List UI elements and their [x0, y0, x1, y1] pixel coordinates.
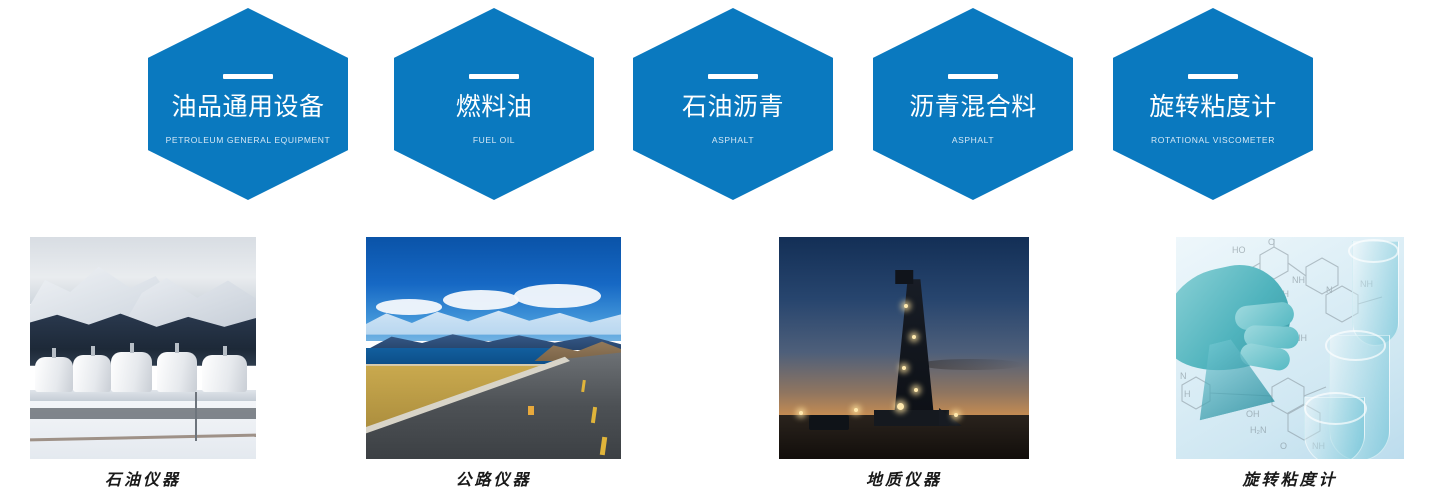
drilling-rig-dusk-scene	[779, 237, 1029, 459]
laboratory-chemistry-scene: HO O NH NH CH N NH N H H₂N O NH OH	[1176, 237, 1404, 459]
divider-rule-icon	[1188, 74, 1238, 79]
category-hexagon-asphalt[interactable]: 石油沥青 ASPHALT	[633, 8, 833, 200]
category-title: 燃料油	[456, 92, 533, 122]
category-subtitle: FUEL OIL	[473, 134, 515, 146]
category-hexagon-petroleum-general-equipment[interactable]: 油品通用设备 PETROLEUM GENERAL EQUIPMENT	[148, 8, 348, 200]
divider-rule-icon	[948, 74, 998, 79]
category-title: 沥青混合料	[909, 92, 1037, 122]
divider-rule-icon	[223, 74, 273, 79]
category-title: 旋转粘度计	[1149, 92, 1277, 122]
category-hexagon-fuel-oil[interactable]: 燃料油 FUEL OIL	[394, 8, 594, 200]
category-title: 石油沥青	[682, 92, 784, 122]
divider-rule-icon	[469, 74, 519, 79]
svg-text:O: O	[1280, 441, 1287, 451]
highway-lake-scene	[366, 237, 621, 459]
svg-text:N: N	[1180, 371, 1187, 381]
category-hexagon-rotational-viscometer[interactable]: 旋转粘度计 ROTATIONAL VISCOMETER	[1113, 8, 1313, 200]
svg-text:O: O	[1268, 237, 1275, 247]
gallery-image-petroleum-instruments[interactable]	[30, 237, 256, 459]
divider-rule-icon	[708, 74, 758, 79]
gallery-image-highway-instruments[interactable]	[366, 237, 621, 459]
gallery-caption-geological-instruments: 地质仪器	[779, 466, 1029, 494]
gallery-caption-highway-instruments: 公路仪器	[366, 466, 621, 494]
gallery-photo-row: HO O NH NH CH N NH N H H₂N O NH OH	[0, 237, 1440, 459]
svg-text:HO: HO	[1232, 245, 1246, 255]
svg-text:NH: NH	[1292, 275, 1305, 285]
gallery-image-rotational-viscometer[interactable]: HO O NH NH CH N NH N H H₂N O NH OH	[1176, 237, 1404, 459]
category-subtitle: PETROLEUM GENERAL EQUIPMENT	[166, 134, 331, 146]
gallery-image-geological-instruments[interactable]	[779, 237, 1029, 459]
svg-text:H₂N: H₂N	[1250, 425, 1267, 435]
gallery-caption-rotational-viscometer: 旋转粘度计	[1176, 466, 1404, 494]
category-subtitle: ASPHALT	[952, 134, 994, 146]
category-subtitle: ROTATIONAL VISCOMETER	[1151, 134, 1275, 146]
svg-text:H: H	[1184, 389, 1191, 399]
svg-text:N: N	[1326, 285, 1333, 295]
category-hexagon-row: 油品通用设备 PETROLEUM GENERAL EQUIPMENT 燃料油 F…	[0, 0, 1440, 210]
category-title: 油品通用设备	[171, 92, 324, 122]
gallery-caption-petroleum-instruments: 石油仪器	[30, 466, 256, 494]
refinery-snow-scene	[30, 237, 256, 459]
svg-text:OH: OH	[1246, 409, 1260, 419]
category-hexagon-asphalt-mixture[interactable]: 沥青混合料 ASPHALT	[873, 8, 1073, 200]
category-subtitle: ASPHALT	[712, 134, 754, 146]
